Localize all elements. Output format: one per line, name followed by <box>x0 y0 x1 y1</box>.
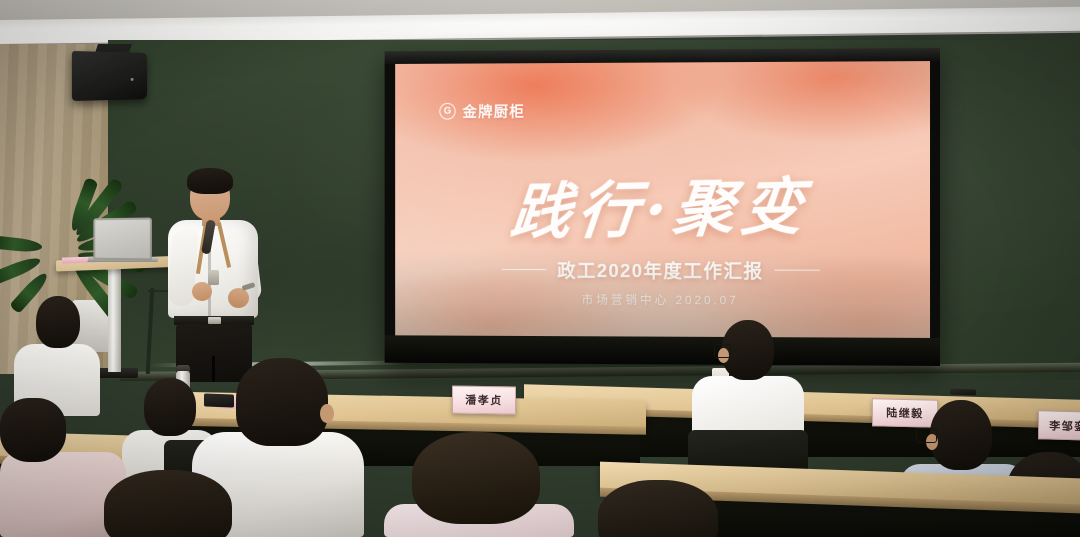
speaker-led-icon <box>131 78 134 81</box>
attendee-head <box>930 400 992 470</box>
projection-screen: G 金牌厨柜 践行·聚变 政工2020年度工作汇报 市场营销中心 2020.07 <box>385 48 940 366</box>
attendee-head <box>598 480 718 537</box>
name-placard: 李邹銮 <box>1038 410 1080 440</box>
attendee-ear <box>320 404 334 423</box>
attendee-head <box>236 358 328 446</box>
slide-meta: 市场营销中心 2020.07 <box>395 290 930 309</box>
belt-buckle <box>208 317 221 324</box>
attendee-head <box>0 398 66 462</box>
placard-name: 李邹銮 <box>1049 417 1080 434</box>
presenter-right-hand <box>228 288 249 308</box>
brand-logo: G 金牌厨柜 <box>439 101 525 122</box>
presenter-badge <box>208 270 219 285</box>
placard-name: 潘孝贞 <box>465 392 503 409</box>
presenter-speaker <box>160 166 272 381</box>
subtitle-rule-left <box>502 269 547 271</box>
slide-subtitle: 政工2020年度工作汇报 <box>557 256 763 283</box>
laptop-icon <box>93 218 151 261</box>
pen-on-table <box>950 389 976 396</box>
attendee-head <box>412 432 540 524</box>
slide-subtitle-row: 政工2020年度工作汇报 <box>395 256 930 284</box>
name-placard: 潘孝贞 <box>452 385 516 414</box>
attendee-head <box>144 378 196 436</box>
eyeglasses-icon <box>916 428 937 443</box>
attendee-head <box>104 470 232 537</box>
attendee-head <box>36 296 80 348</box>
attendee-foreground-right <box>598 476 758 537</box>
meeting-room-photo: G 金牌厨柜 践行·聚变 政工2020年度工作汇报 市场营销中心 2020.07 <box>0 0 1080 537</box>
slide-canvas: G 金牌厨柜 践行·聚变 政工2020年度工作汇报 市场营销中心 2020.07 <box>395 61 930 338</box>
screen-bottom-bar <box>385 335 940 366</box>
attendee-foreground-left <box>104 470 274 537</box>
brand-g-icon: G <box>439 103 455 120</box>
slide-title: 践行·聚变 <box>395 153 930 253</box>
presenter-left-hand <box>192 282 212 301</box>
wall-speaker-icon <box>72 51 147 101</box>
eyeglasses-icon <box>714 344 731 358</box>
brand-name: 金牌厨柜 <box>462 101 525 122</box>
attendee-foreground-center <box>384 432 574 537</box>
presenter-hair <box>187 168 233 194</box>
podium-column <box>108 268 121 372</box>
subtitle-rule-right <box>774 269 819 271</box>
